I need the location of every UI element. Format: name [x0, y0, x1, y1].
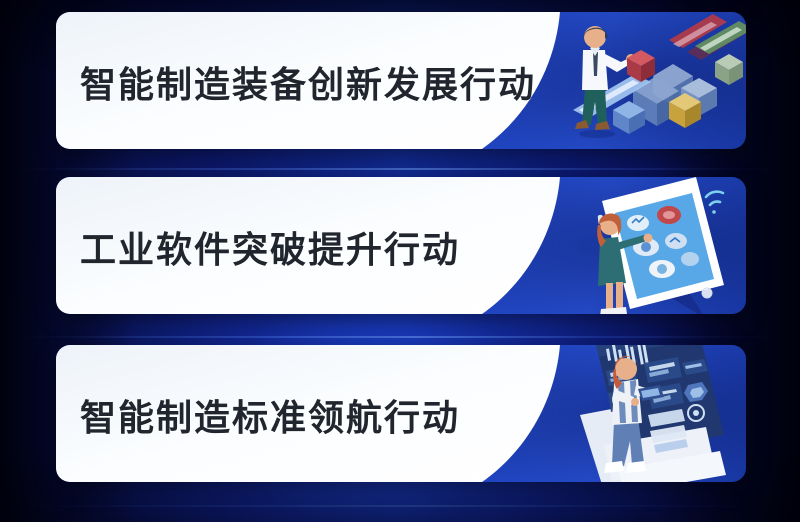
- card-title: 智能制造标准领航行动: [80, 389, 460, 441]
- poster-canvas: 智能制造装备创新发展行动: [0, 0, 800, 522]
- action-card[interactable]: 智能制造标准领航行动: [56, 345, 746, 482]
- action-card[interactable]: 智能制造装备创新发展行动: [56, 12, 746, 149]
- person-at-data-dashboard-icon: [556, 345, 746, 482]
- action-card[interactable]: 工业软件突破提升行动: [56, 177, 746, 314]
- person-with-isometric-cubes-icon: [561, 12, 746, 149]
- person-with-tablet-screen-icon: [556, 177, 746, 314]
- card-title: 智能制造装备创新发展行动: [80, 56, 536, 108]
- card-title: 工业软件突破提升行动: [80, 221, 460, 273]
